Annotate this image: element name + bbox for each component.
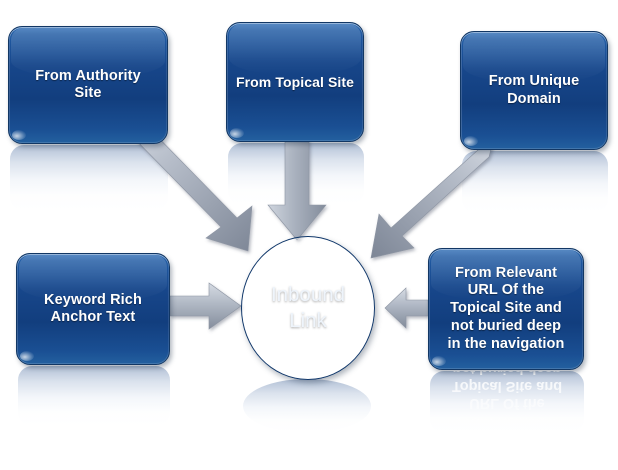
node-label: Keyword Rich Anchor Text bbox=[38, 292, 148, 326]
reflection-keyword-rich-anchor-text bbox=[18, 366, 170, 426]
node-from-topical-site[interactable]: From Topical Site bbox=[226, 22, 364, 142]
reflection-from-unique-domain bbox=[462, 151, 608, 213]
node-from-unique-domain[interactable]: From Unique Domain bbox=[460, 31, 608, 150]
reflection-from-topical-site bbox=[228, 143, 364, 205]
node-label: From Topical Site bbox=[230, 74, 360, 91]
diagram-canvas: From Relevant URL Of the Topical Site an… bbox=[0, 0, 618, 470]
reflection-from-relevant-url bbox=[430, 371, 584, 433]
node-label: From Authority Site bbox=[29, 68, 147, 102]
node-keyword-rich-anchor-text[interactable]: Keyword Rich Anchor Text bbox=[16, 253, 170, 365]
node-label: Inbound Link bbox=[271, 282, 345, 333]
arrow-relevant-to-inbound bbox=[385, 288, 428, 328]
node-label: From Relevant URL Of the Topical Site an… bbox=[442, 265, 571, 353]
reflection-inbound-link bbox=[243, 379, 371, 433]
arrow-topical-to-inbound bbox=[268, 140, 326, 240]
arrow-anchor-to-inbound bbox=[170, 283, 241, 329]
reflection-from-authority-site bbox=[10, 145, 168, 211]
node-from-authority-site[interactable]: From Authority Site bbox=[8, 26, 168, 144]
reflection-text-from-relevant-url: From Relevant URL Of the Topical Site an… bbox=[430, 371, 584, 430]
node-label: From Unique Domain bbox=[483, 73, 586, 107]
node-inbound-link[interactable]: Inbound Link bbox=[241, 236, 375, 380]
node-from-relevant-url[interactable]: From Relevant URL Of the Topical Site an… bbox=[428, 248, 584, 370]
